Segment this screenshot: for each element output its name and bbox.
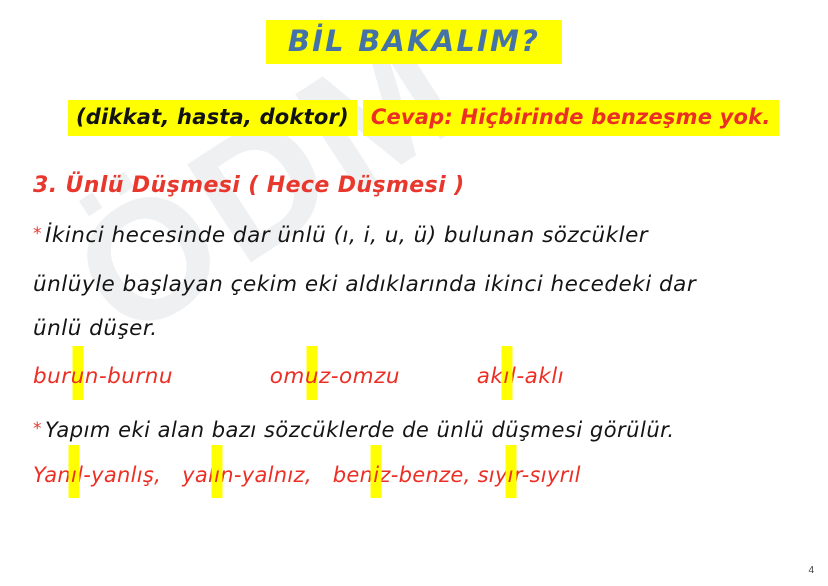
example-7-post: r-sıyrıl xyxy=(514,463,581,487)
example-4-post: l-yanlış, xyxy=(77,463,161,487)
example-word-4: Yanıl-yanlış, xyxy=(33,463,161,487)
slide-title: BİL BAKALIM? xyxy=(266,20,562,64)
example-6-pre: ben xyxy=(333,463,373,487)
example-word-5: yalın-yalnız, xyxy=(182,463,312,487)
example-3-pre: ak xyxy=(477,364,504,389)
answer-highlight: Cevap: Hiçbirinde benzeşme yok. xyxy=(363,100,779,136)
examples-derivation: Yanıl-yanlış, yalın-yalnız, beniz-benze,… xyxy=(33,463,581,487)
example-1-dropped-vowel: u xyxy=(71,364,85,389)
example-sep-5 xyxy=(319,463,326,487)
example-2-pre: om xyxy=(270,364,305,389)
example-5-pre: yal xyxy=(182,463,214,487)
bullet-asterisk-1: * xyxy=(33,224,42,244)
example-2-dropped-vowel: u xyxy=(305,364,319,389)
example-4-dropped-vowel: ı xyxy=(71,463,77,487)
example-word-1: burun-burnu xyxy=(33,364,173,389)
rule-line-3: ünlü düşer. xyxy=(33,316,158,341)
examples-inflection: burun-burnu omuz-omzu akıl-aklı xyxy=(33,364,564,389)
example-word-2: omuz-omzu xyxy=(270,364,400,389)
rule-line-1-text: İkinci hecesinde dar ünlü (ı, i, u, ü) b… xyxy=(45,223,648,248)
title-container: BİL BAKALIM? xyxy=(0,20,828,64)
page-number: 4 xyxy=(808,565,814,576)
example-6-post: z-benze, xyxy=(379,463,470,487)
example-6-dropped-vowel: i xyxy=(373,463,379,487)
example-2-post: z-omzu xyxy=(319,364,400,389)
example-7-pre: sıy xyxy=(478,463,508,487)
example-3-post: l-aklı xyxy=(510,364,564,389)
example-1-post: n-burnu xyxy=(85,364,173,389)
example-word-3: akıl-aklı xyxy=(477,364,564,389)
example-3-dropped-vowel: ı xyxy=(503,364,509,389)
example-5-dropped-vowel: ı xyxy=(214,463,220,487)
rule-line-4-text: Yapım eki alan bazı sözcüklerde de ünlü … xyxy=(45,418,675,442)
rule-line-2: ünlüyle başlayan çekim eki aldıklarında … xyxy=(33,272,696,297)
section-heading: 3. Ünlü Düşmesi ( Hece Düşmesi ) xyxy=(33,173,465,198)
bullet-asterisk-2: * xyxy=(33,419,42,439)
answer-row: (dikkat, hasta, doktor) Cevap: Hiçbirind… xyxy=(68,100,779,136)
example-1-pre: bur xyxy=(33,364,71,389)
example-sep-4 xyxy=(168,463,175,487)
slide-canvas: ÖDM BİL BAKALIM? (dikkat, hasta, doktor)… xyxy=(0,0,828,586)
rule-line-1: *İkinci hecesinde dar ünlü (ı, i, u, ü) … xyxy=(33,223,648,248)
rule-line-4: *Yapım eki alan bazı sözcüklerde de ünlü… xyxy=(33,418,675,442)
example-word-7: sıyır-sıyrıl xyxy=(478,463,581,487)
example-7-dropped-vowel: ı xyxy=(508,463,514,487)
example-word-6: beniz-benze, xyxy=(333,463,471,487)
question-words-highlight: (dikkat, hasta, doktor) xyxy=(68,100,357,136)
slide-content: BİL BAKALIM? (dikkat, hasta, doktor) Cev… xyxy=(0,0,828,586)
example-4-pre: Yan xyxy=(33,463,71,487)
example-5-post: n-yalnız, xyxy=(220,463,312,487)
